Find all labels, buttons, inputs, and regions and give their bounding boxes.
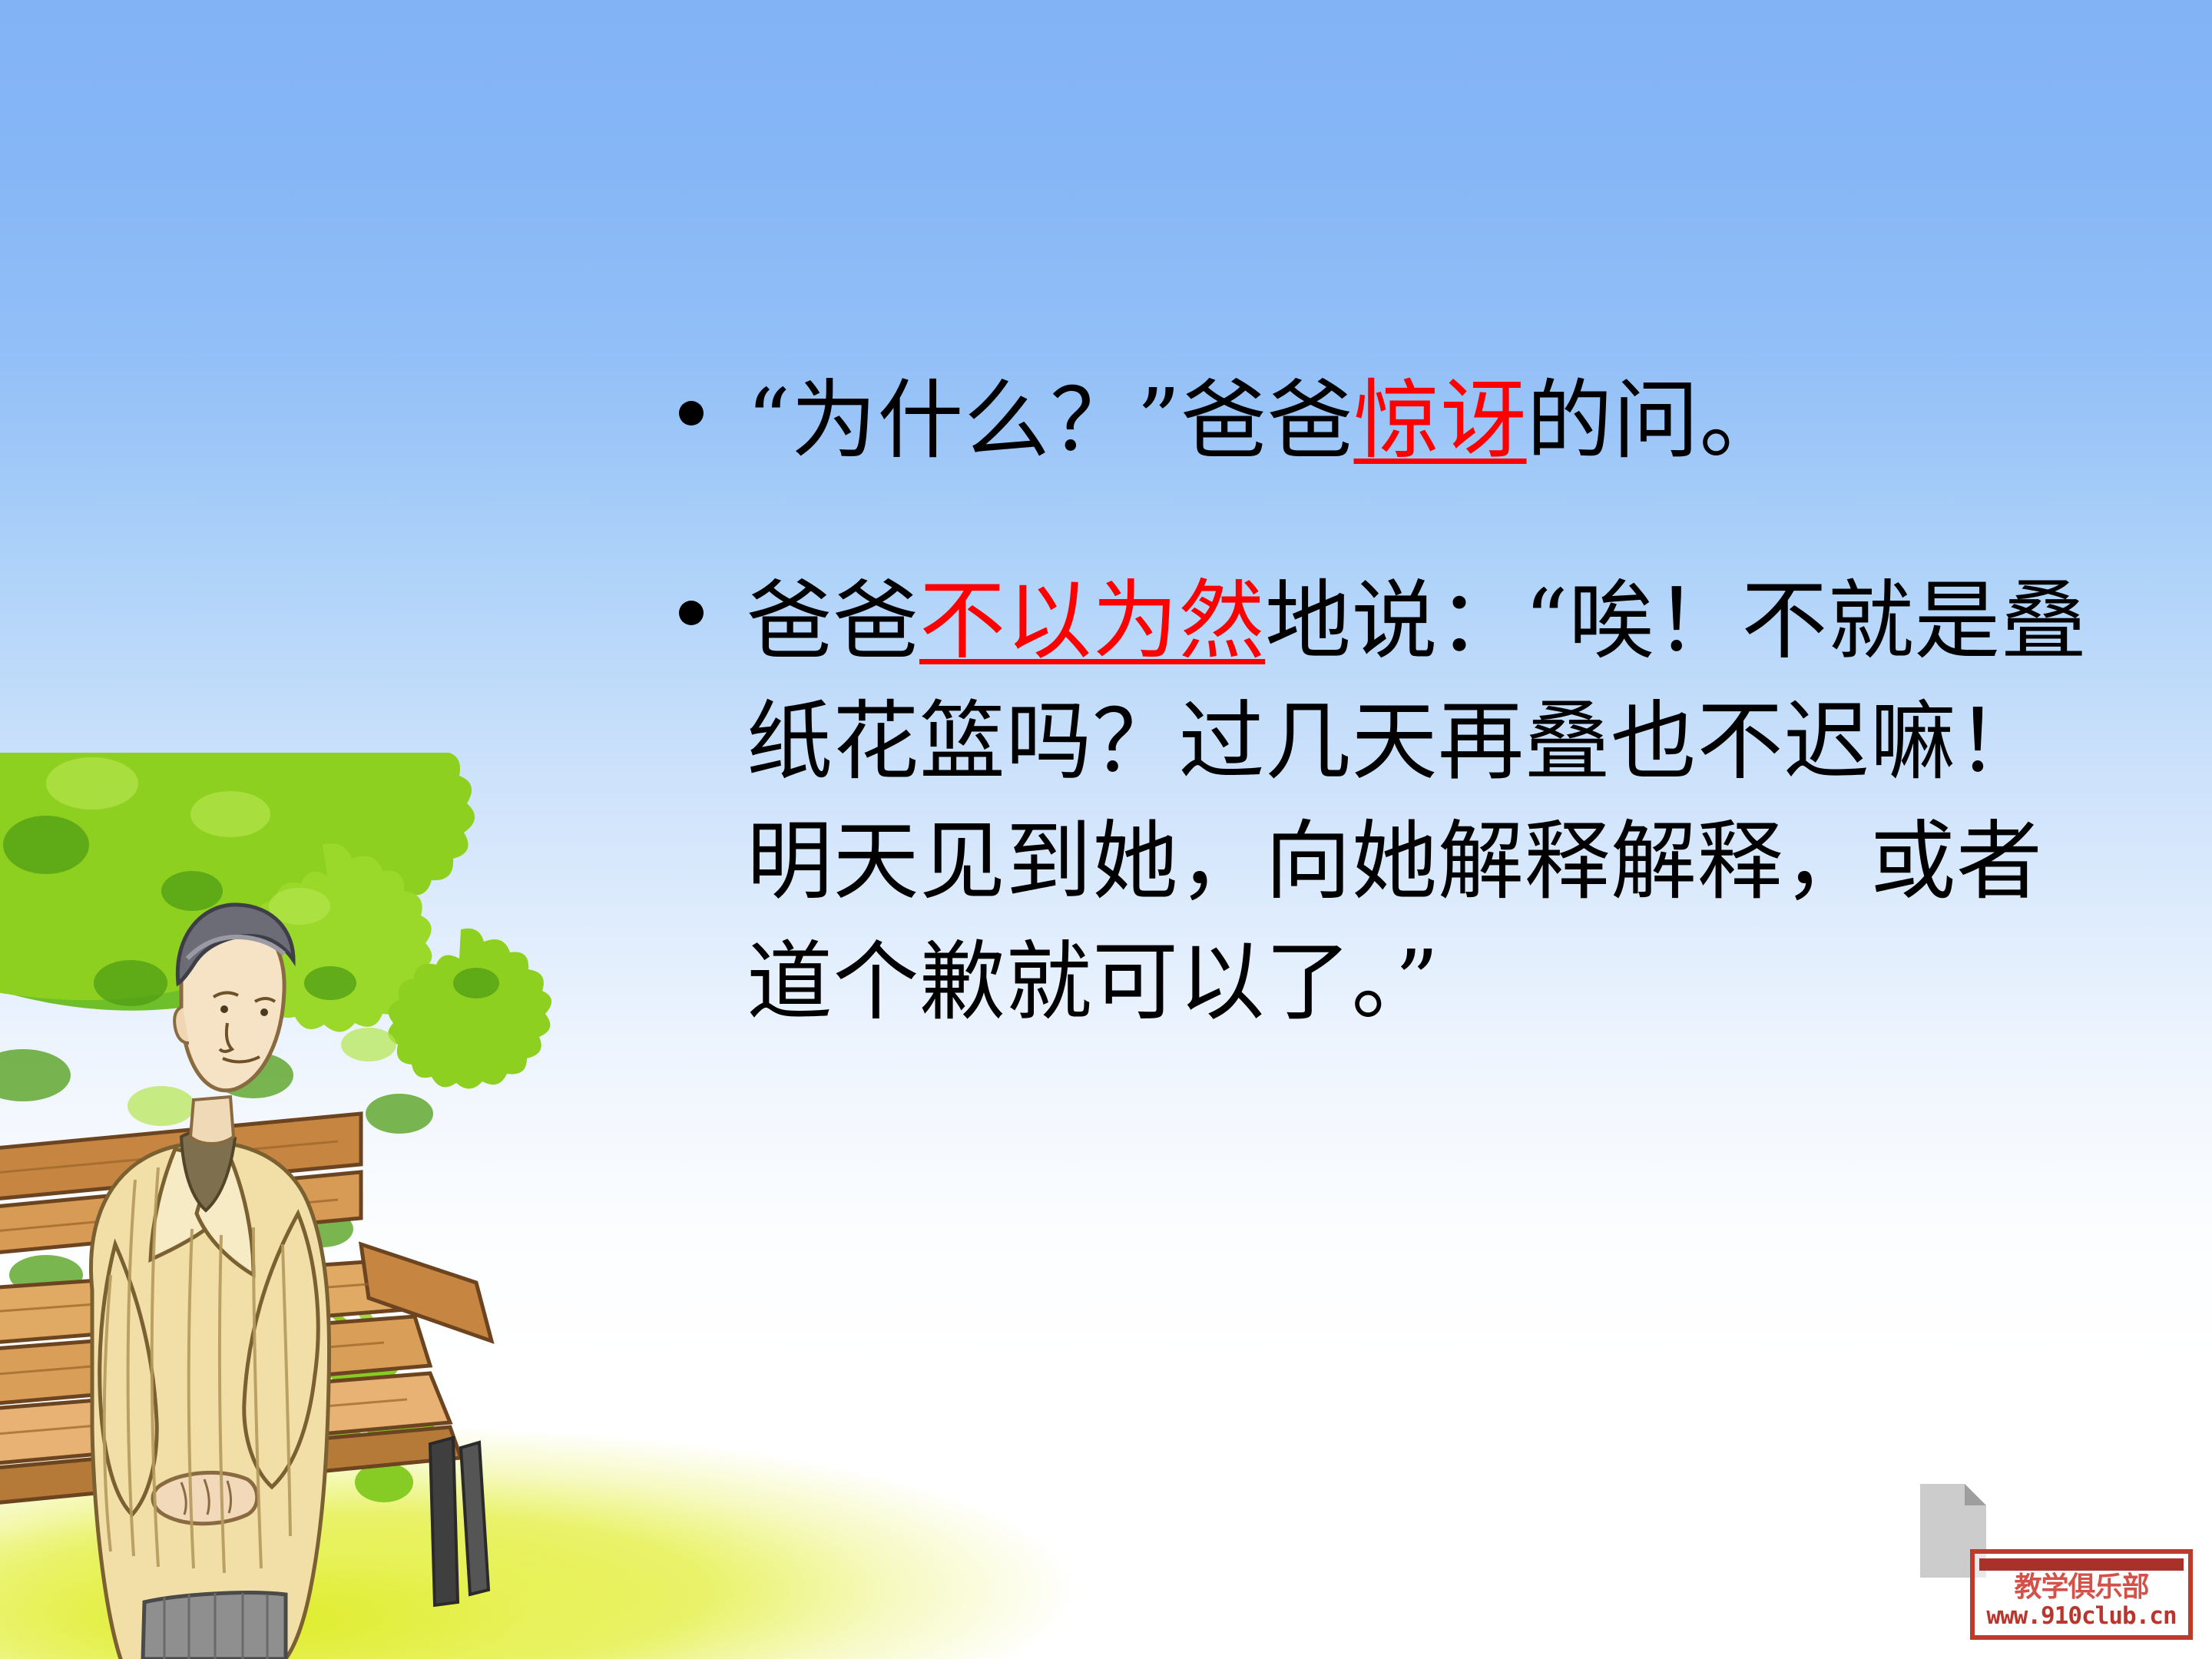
paragraph-2: 爸爸不以为然地说：“唉！不就是叠纸花篮吗？过几天再叠也不迟嘛！明天见到她，向她解…	[661, 561, 2104, 1043]
slide-canvas: “为什么？”爸爸惊讶的问。 爸爸不以为然地说：“唉！不就是叠纸花篮吗？过几天再叠…	[0, 0, 2212, 1659]
run-highlight: 惊讶	[1354, 371, 1527, 471]
paragraph-1: “为什么？”爸爸惊讶的问。	[661, 361, 2104, 482]
bullet-marker-1	[679, 401, 704, 426]
stamp-top-bar	[1979, 1558, 2184, 1571]
paragraph-2-text: 爸爸不以为然地说：“唉！不就是叠纸花篮吗？过几天再叠也不迟嘛！明天见到她，向她解…	[661, 561, 2104, 1043]
paragraph-1-text: “为什么？”爸爸惊讶的问。	[661, 361, 2104, 482]
run-plain: 的问。	[1527, 371, 1786, 471]
run-highlight: 不以为然	[919, 571, 1265, 671]
father-figure	[91, 905, 329, 1659]
run-plain: “为什么？”爸爸	[747, 371, 1354, 471]
watermark-stamp: 教学俱乐部 www.910club.cn	[1970, 1549, 2193, 1640]
run-plain: 爸爸	[747, 571, 919, 671]
stamp-title: 教学俱乐部	[1975, 1572, 2188, 1603]
stamp-url: www.910club.cn	[1975, 1603, 2188, 1629]
slide-text-body: “为什么？”爸爸惊讶的问。 爸爸不以为然地说：“唉！不就是叠纸花篮吗？过几天再叠…	[661, 361, 2104, 1043]
illustration-father-on-bench	[0, 753, 691, 1659]
